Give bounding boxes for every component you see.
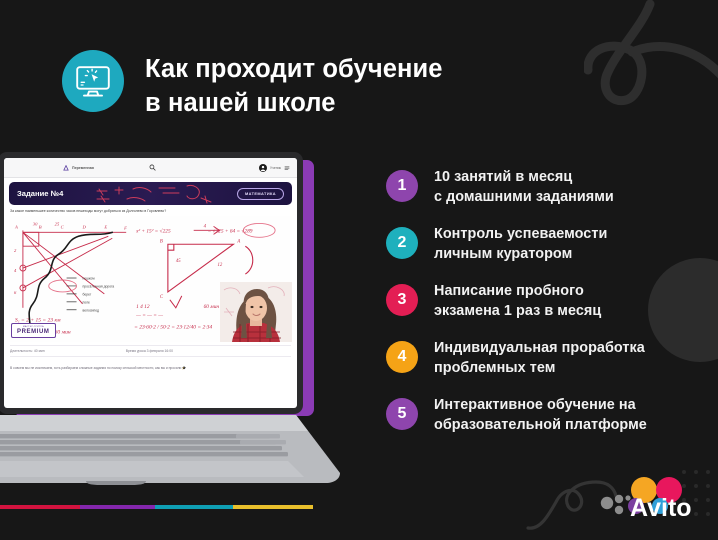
list-item: 4 Индивидуальная проработка проблемных т… <box>386 338 686 378</box>
feature-text: Индивидуальная проработка проблемных тем <box>434 338 645 378</box>
svg-text:велосипед: велосипед <box>82 309 99 313</box>
search-icon <box>149 164 156 171</box>
svg-text:30: 30 <box>33 222 38 227</box>
stripe-segment <box>155 505 233 509</box>
feature-number-badge: 3 <box>386 284 418 316</box>
svg-text:поле: поле <box>82 301 90 305</box>
laptop-base <box>0 407 340 485</box>
slide-header: Как проходит обучение в нашей школе <box>62 50 443 121</box>
feature-number-badge: 4 <box>386 341 418 373</box>
chat-note-text: В совсем мы не исключаем, хоть разбираем… <box>10 366 291 371</box>
subject-badge: МАТЕМАТИКА <box>237 188 284 200</box>
svg-text:B: B <box>39 225 42 230</box>
desktop-monitor-click-icon <box>75 65 111 98</box>
premium-badge: МАСТЕР-ГРУППА PREMIUM <box>11 323 56 338</box>
user-menu[interactable]: Ученик <box>259 164 290 172</box>
svg-text:4: 4 <box>204 225 207 230</box>
list-item: 5 Интерактивное обучение на образователь… <box>386 395 686 435</box>
list-item: 1 10 занятий в месяц с домашними задания… <box>386 167 686 207</box>
laptop-screen: Переменная Учен <box>4 158 297 408</box>
svg-text:Avito: Avito <box>630 494 692 522</box>
feature-number-badge: 2 <box>386 227 418 259</box>
svg-text:берег: берег <box>82 293 91 297</box>
lesson-duration: Длительность: 40 мин <box>10 349 45 353</box>
svg-text:E: E <box>103 225 107 230</box>
search-input[interactable] <box>149 164 156 171</box>
svg-text:A: A <box>236 240 240 245</box>
feature-text: 10 занятий в месяц с домашними заданиями <box>434 167 614 207</box>
user-avatar-icon <box>259 164 267 172</box>
platform-brand[interactable]: Переменная <box>63 165 94 171</box>
svg-text:2: 2 <box>14 248 17 253</box>
svg-text:— = — = —: — = — = — <box>135 313 163 319</box>
svg-text:D: D <box>81 225 86 230</box>
feature-number-badge: 5 <box>386 398 418 430</box>
svg-text:= 23·60·2 / 50·2 = 23·12/40 =: = 23·60·2 / 50·2 = 23·12/40 = 2·34 <box>134 324 212 331</box>
task-banner: Задание №4 МАТЕМАТИКА <box>9 182 292 205</box>
svg-text:1 4 12: 1 4 12 <box>136 304 150 310</box>
premium-badge-text: PREMIUM <box>17 329 50 335</box>
svg-text:пешком: пешком <box>82 277 95 281</box>
svg-text:x² + 15² = √225: x² + 15² = √225 <box>135 228 171 235</box>
platform-logo-icon <box>63 165 69 171</box>
lesson-info-strip: Длительность: 40 мин Время урока 3 февра… <box>10 345 291 357</box>
whiteboard-area[interactable]: ABC DEF 246 3025 <box>9 216 292 342</box>
browser-top-bar: Переменная Учен <box>4 158 297 178</box>
feature-text: Написание пробного экзамена 1 раз в меся… <box>434 281 601 321</box>
svg-text:25: 25 <box>55 222 60 227</box>
student-webcam-image <box>220 282 292 342</box>
avito-logo: Avito <box>600 476 704 522</box>
stripe-segment <box>80 505 155 509</box>
stripe-segment <box>233 505 313 509</box>
task-title: Задание №4 <box>17 189 63 198</box>
svg-text:6: 6 <box>14 290 17 295</box>
laptop-mockup: Переменная Учен <box>0 152 340 452</box>
svg-text:45: 45 <box>176 259 181 264</box>
page-title: Как проходит обучение в нашей школе <box>145 53 443 121</box>
svg-text:4: 4 <box>14 268 17 273</box>
color-stripe <box>0 505 350 509</box>
stripe-segment <box>0 505 80 509</box>
svg-text:A: A <box>14 225 18 230</box>
header-icon-circle <box>62 50 124 112</box>
svg-text:= √225 + 64 = √289: = √225 + 64 = √289 <box>208 228 253 235</box>
hamburger-menu-icon[interactable] <box>284 165 290 171</box>
swirl-decoration-top-right <box>584 0 718 112</box>
banner-formula-decoration <box>93 182 213 205</box>
list-item: 2 Контроль успеваемости личным куратором <box>386 224 686 264</box>
svg-text:C: C <box>61 225 65 230</box>
student-video-thumbnail[interactable] <box>220 282 292 342</box>
svg-text:просёлочная дорога: просёлочная дорога <box>82 285 114 289</box>
feature-text: Интерактивное обучение на образовательно… <box>434 395 647 435</box>
user-role-label: Ученик <box>270 166 281 170</box>
platform-brand-label: Переменная <box>72 166 94 170</box>
feature-text: Контроль успеваемости личным куратором <box>434 224 607 264</box>
svg-text:12: 12 <box>218 263 223 268</box>
svg-text:F: F <box>123 226 127 231</box>
laptop-lid: Переменная Учен <box>0 152 303 414</box>
list-item: 3 Написание пробного экзамена 1 раз в ме… <box>386 281 686 321</box>
feature-number-badge: 1 <box>386 170 418 202</box>
slide-canvas: Как проходит обучение в нашей школе 1 10… <box>0 0 718 540</box>
lesson-time: Время урока 3 февраля 16:00 <box>126 349 173 353</box>
features-list: 1 10 занятий в месяц с домашними задания… <box>386 167 686 435</box>
svg-text:B: B <box>160 240 163 245</box>
svg-text:C: C <box>160 295 164 300</box>
task-question-text: За какое наименьшее количество часов пеш… <box>10 209 291 214</box>
